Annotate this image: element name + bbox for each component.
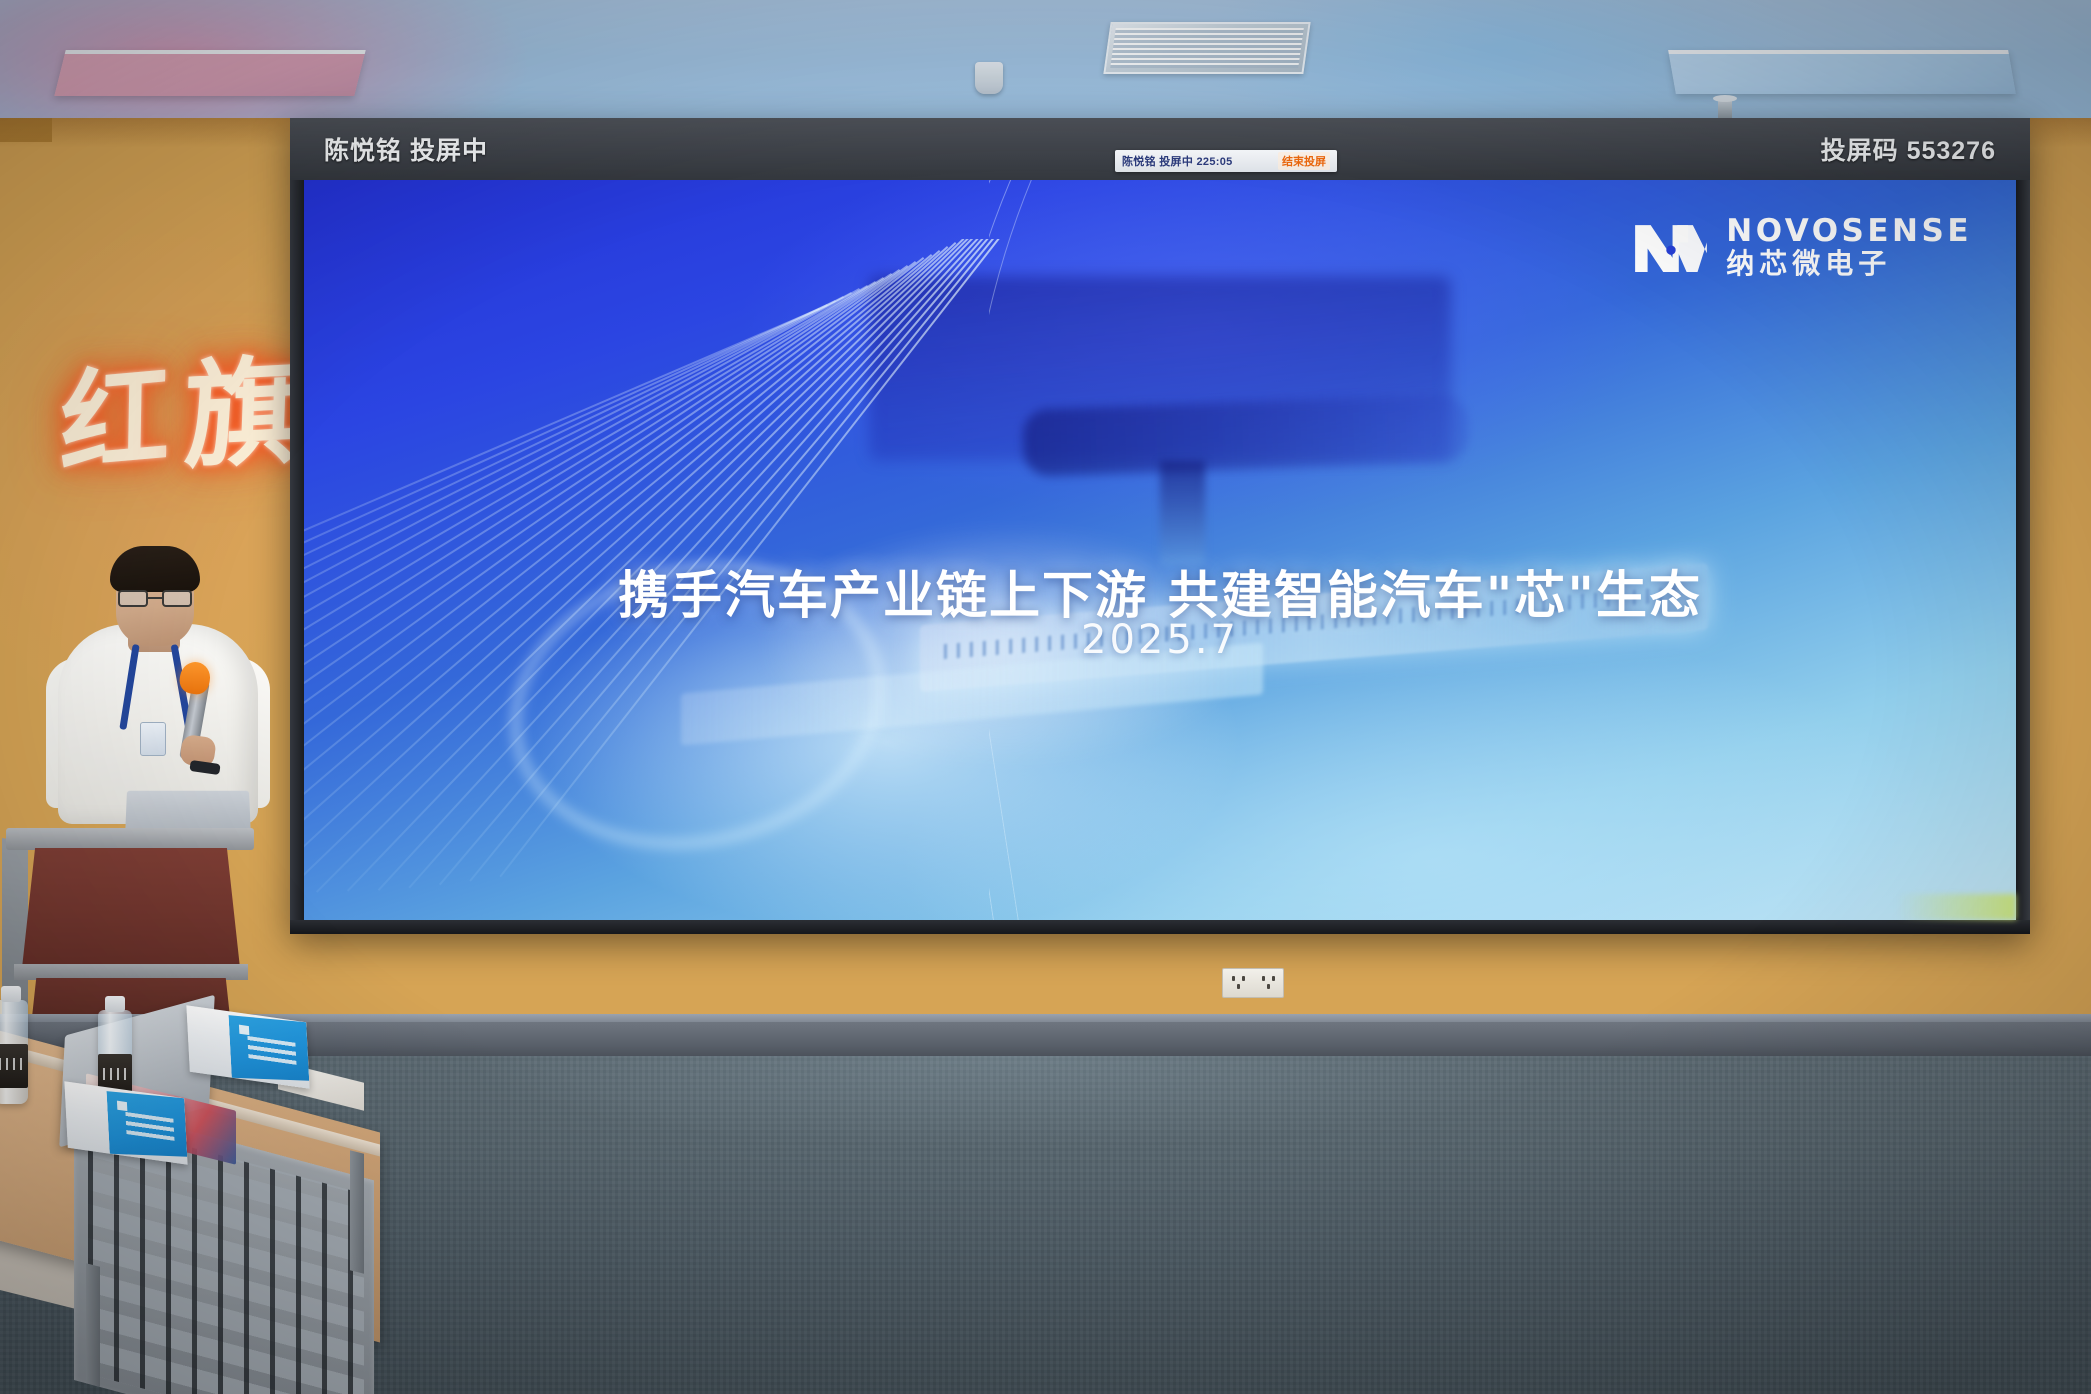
glasses-icon: [117, 590, 193, 607]
conference-room-scene: 红 旗 陈悦铭 投屏中 投屏码 553276: [0, 0, 2091, 1394]
tent-mark: [117, 1101, 127, 1111]
projection-code-label: 投屏码 553276: [1821, 131, 1996, 167]
lens-left: [118, 590, 148, 607]
swoosh-curve: [989, 180, 2016, 920]
stage-front-face: [0, 1022, 2091, 1060]
casting-status-text: 陈悦铭 投屏中 225:05: [1122, 153, 1233, 169]
presenter-hair: [110, 546, 200, 592]
screen-bezel-right: [2016, 180, 2030, 934]
water-bottle: [0, 1000, 28, 1104]
socket-left: [1223, 969, 1253, 997]
swoosh-curve-graphic: [989, 180, 2016, 920]
presenter-status-label: 陈悦铭 投屏中: [324, 131, 488, 167]
bottle-label: [0, 1044, 28, 1088]
screen-edge-glow: [1896, 894, 2016, 920]
floor-light-sheen: [260, 1056, 1760, 1256]
end-casting-button[interactable]: 结束投屏: [1278, 152, 1330, 170]
logo-wordmark: NOVOSENSE 纳芯微电子: [1726, 216, 1972, 278]
wall-socket-icon: [1222, 968, 1284, 998]
tent-mark: [239, 1025, 249, 1035]
casting-control-bar[interactable]: 陈悦铭 投屏中 225:05 结束投屏: [1115, 150, 1337, 172]
socket-right: [1253, 969, 1283, 997]
ceiling: [0, 0, 2091, 128]
table-leg: [350, 1150, 364, 1273]
logo-english-name: NOVOSENSE: [1726, 216, 1972, 247]
logo-chinese-name: 纳芯微电子: [1726, 250, 1972, 278]
glasses-bridge: [148, 597, 162, 599]
podium-front-panel: [22, 848, 240, 968]
slide-date: 2025.7: [304, 617, 2016, 663]
neon-char-qi: 旗: [182, 353, 302, 475]
bottle-cap: [105, 996, 125, 1012]
led-display-screen[interactable]: 陈悦铭 投屏中 投屏码 553276: [290, 118, 2030, 934]
presenter-podium-group: [0, 540, 350, 1040]
ceiling-speaker-icon: [975, 62, 1003, 94]
light-ray: [304, 304, 827, 794]
badge-card: [140, 722, 166, 756]
ceiling-vent-icon: [54, 50, 365, 96]
neon-char-hong: 红: [59, 360, 171, 480]
novosense-logo: NOVOSENSE 纳芯微电子: [1632, 216, 1972, 278]
podium-top-surface: [6, 828, 254, 850]
hongqi-neon-sign: 红 旗: [60, 355, 290, 485]
ceiling-vent-icon: [1103, 22, 1310, 74]
novosense-n-logo-icon: [1632, 218, 1710, 276]
slide-canvas: NOVOSENSE 纳芯微电子 携手汽车产业链上下游 共建智能汽车"芯"生态 2…: [304, 180, 2016, 920]
podium-mid-band: [14, 964, 248, 980]
ceiling-vent-icon: [1668, 50, 2016, 94]
bottle-cap: [1, 986, 21, 1002]
table-leg: [86, 1263, 100, 1386]
lens-right: [162, 590, 192, 607]
screen-bezel-bottom: [290, 920, 2030, 934]
vent-louvers: [1110, 28, 1304, 68]
